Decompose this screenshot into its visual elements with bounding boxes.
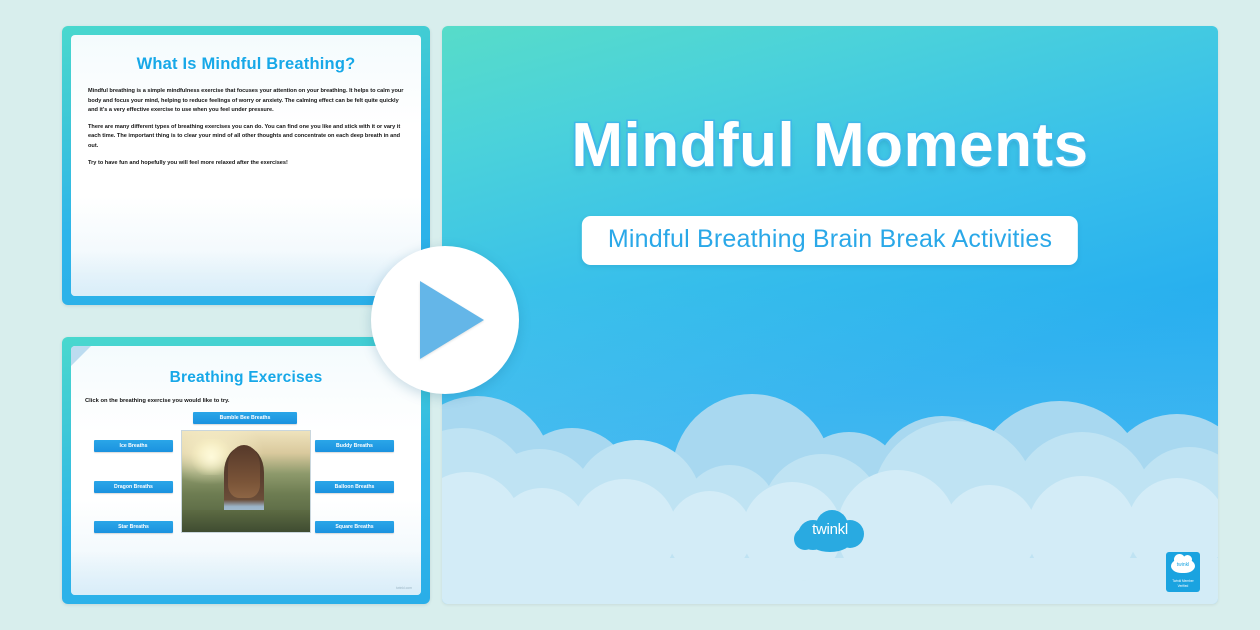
twinkl-verified-badge: twinkl Twinkl Member Verified <box>1166 552 1200 592</box>
slide-1-title: What Is Mindful Breathing? <box>71 55 421 74</box>
exercise-button-balloon[interactable]: Balloon Breaths <box>315 481 394 493</box>
twinkl-cloud-logo: twinkl <box>792 506 868 554</box>
slide-2-content: Breathing Exercises Click on the breathi… <box>71 346 421 595</box>
badge-caption-line2: Verified <box>1166 584 1200 588</box>
slide-1-body: Mindful breathing is a simple mindfulnes… <box>88 87 404 168</box>
slide-2-cloud-decoration <box>71 551 421 595</box>
slide-1-cloud-decoration <box>71 252 421 296</box>
twinkl-logo-text: twinkl <box>792 521 868 538</box>
main-slide-title: Mindful Moments <box>442 110 1218 181</box>
photo-ground <box>182 510 310 532</box>
exercise-button-bumble-bee[interactable]: Bumble Bee Breaths <box>193 412 297 424</box>
main-subtitle-box: Mindful Breathing Brain Break Activities <box>582 216 1078 265</box>
badge-logo-text: twinkl <box>1166 562 1200 568</box>
play-triangle-icon <box>420 281 484 359</box>
main-slide-panel[interactable]: Mindful Moments Mindful Breathing Brain … <box>442 26 1218 604</box>
exercise-button-dragon[interactable]: Dragon Breaths <box>94 481 173 493</box>
slide-1-content: What Is Mindful Breathing? Mindful breat… <box>71 35 421 296</box>
slide-preview-breathing-exercises[interactable]: Breathing Exercises Click on the breathi… <box>62 337 430 604</box>
slide-preview-what-is-mindful-breathing[interactable]: What Is Mindful Breathing? Mindful breat… <box>62 26 430 305</box>
exercise-button-buddy[interactable]: Buddy Breaths <box>315 440 394 452</box>
main-slide-subtitle: Mindful Breathing Brain Break Activities <box>608 225 1052 254</box>
slide-1-paragraph-1: Mindful breathing is a simple mindfulnes… <box>88 87 404 116</box>
exercise-button-star[interactable]: Star Breaths <box>94 521 173 533</box>
badge-caption: Twinkl Member Verified <box>1166 579 1200 588</box>
slide-2-corner-triangle <box>71 346 91 366</box>
breathing-photo <box>181 430 311 533</box>
slide-2-title: Breathing Exercises <box>71 369 421 387</box>
slide-2-instruction: Click on the breathing exercise you woul… <box>85 398 421 404</box>
slide-2-footnote: twinkl.com <box>396 586 412 590</box>
slide-1-paragraph-2: There are many different types of breath… <box>88 123 404 152</box>
exercise-button-ice[interactable]: Ice Breaths <box>94 440 173 452</box>
exercise-button-square[interactable]: Square Breaths <box>315 521 394 533</box>
slide-1-paragraph-3: Try to have fun and hopefully you will f… <box>88 159 404 169</box>
exercise-button-grid: Bumble Bee Breaths Ice Breaths Dragon Br… <box>71 412 421 547</box>
photo-figure-hair <box>228 445 260 498</box>
play-button[interactable] <box>371 246 519 394</box>
